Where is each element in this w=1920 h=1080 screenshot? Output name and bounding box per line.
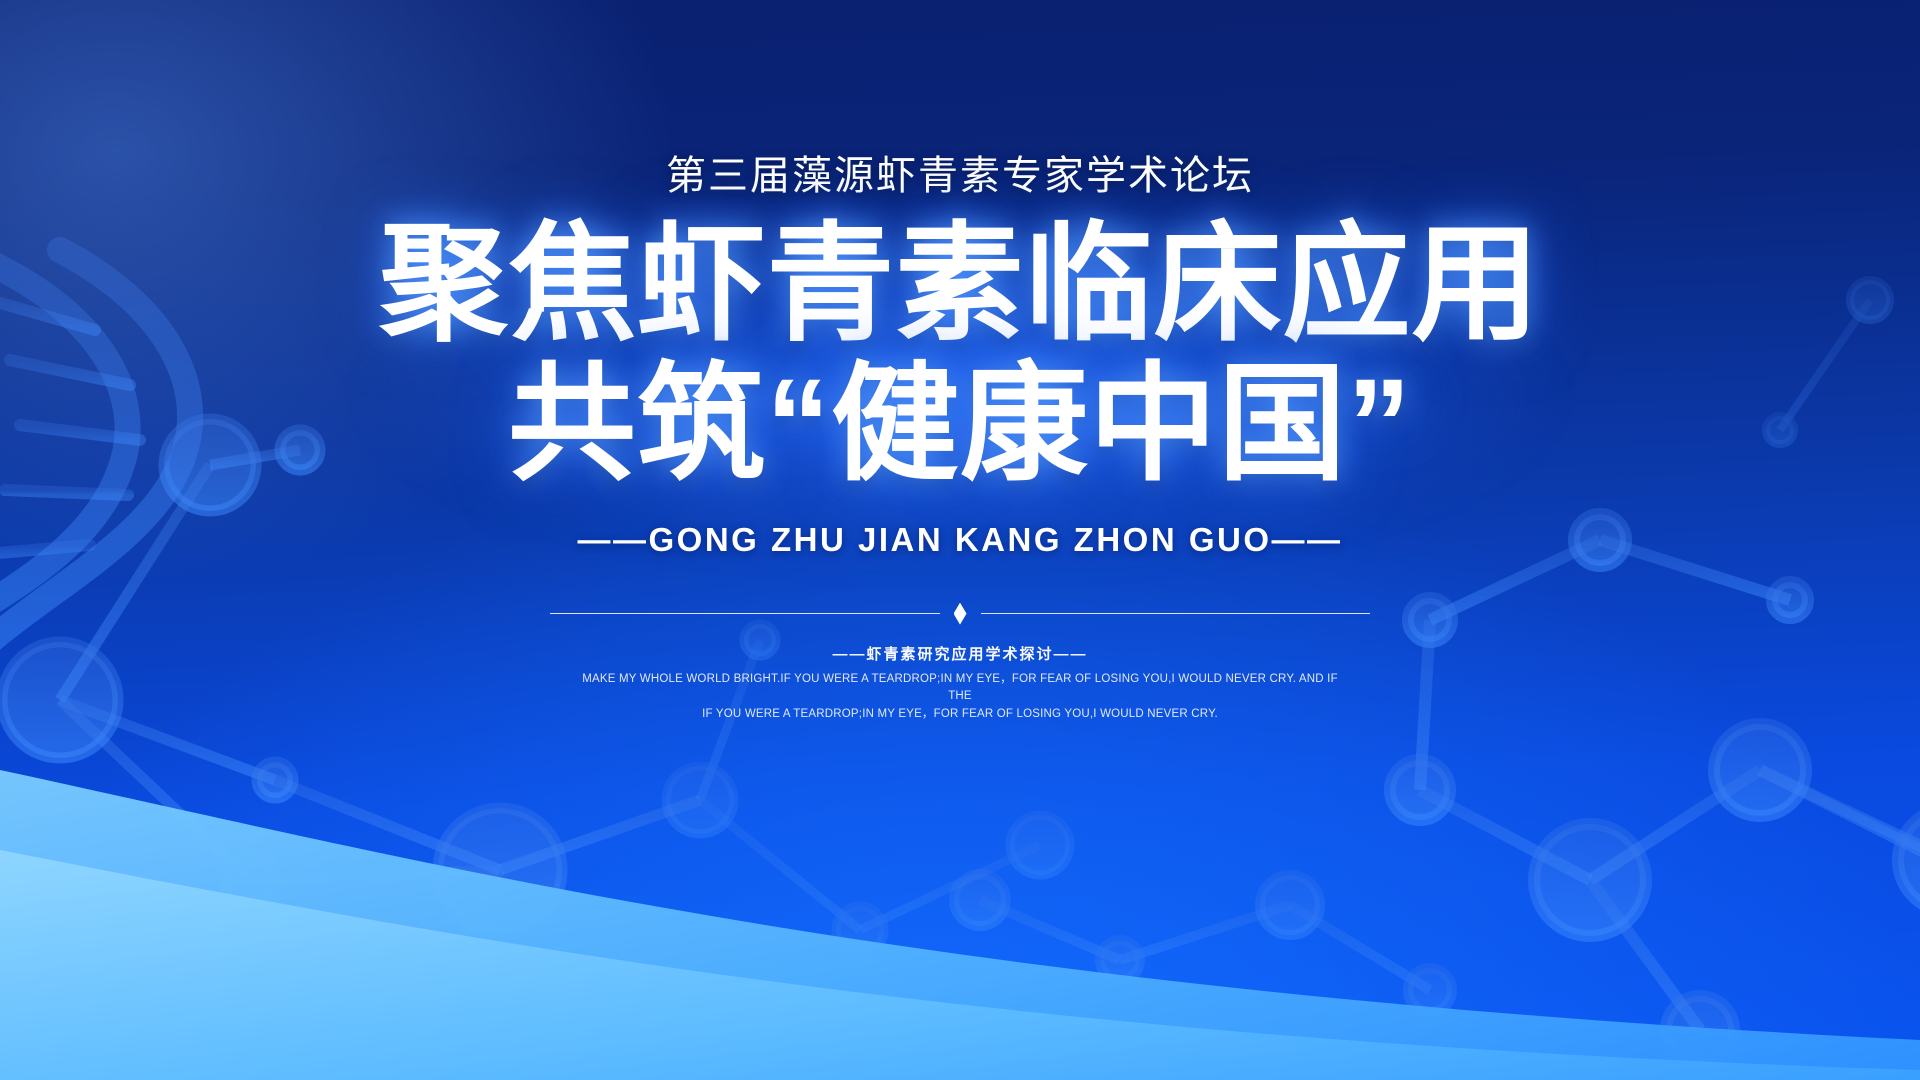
- tagline-english-line-2: IF YOU WERE A TEARDROP;IN MY EYE，FOR FEA…: [570, 706, 1350, 724]
- poster-canvas: 第三届藻源虾青素专家学术论坛 聚焦虾青素临床应用 共筑“健康中国” ——GONG…: [0, 0, 1920, 1080]
- headline-line-2: 共筑“健康中国”: [379, 359, 1540, 491]
- divider-rule-right: [981, 613, 1371, 614]
- headline-line-1: 聚焦虾青素临床应用: [379, 219, 1540, 351]
- poster-content: 第三届藻源虾青素专家学术论坛 聚焦虾青素临床应用 共筑“健康中国” ——GONG…: [0, 0, 1920, 1080]
- tagline-chinese: ——虾青素研究应用学术探讨——: [832, 643, 1087, 664]
- tagline-english-line-1: MAKE MY WHOLE WORLD BRIGHT.IF YOU WERE A…: [570, 671, 1350, 707]
- tagline-english: MAKE MY WHOLE WORLD BRIGHT.IF YOU WERE A…: [570, 671, 1350, 724]
- event-subtitle: 第三届藻源虾青素专家学术论坛: [666, 143, 1254, 201]
- page-title: 聚焦虾青素临床应用 共筑“健康中国”: [379, 219, 1540, 491]
- pinyin-subtitle: ——GONG ZHU JIAN KANG ZHON GUO——: [577, 521, 1342, 559]
- divider: [550, 603, 1370, 625]
- diamond-icon: [954, 603, 967, 625]
- divider-rule-left: [550, 613, 940, 614]
